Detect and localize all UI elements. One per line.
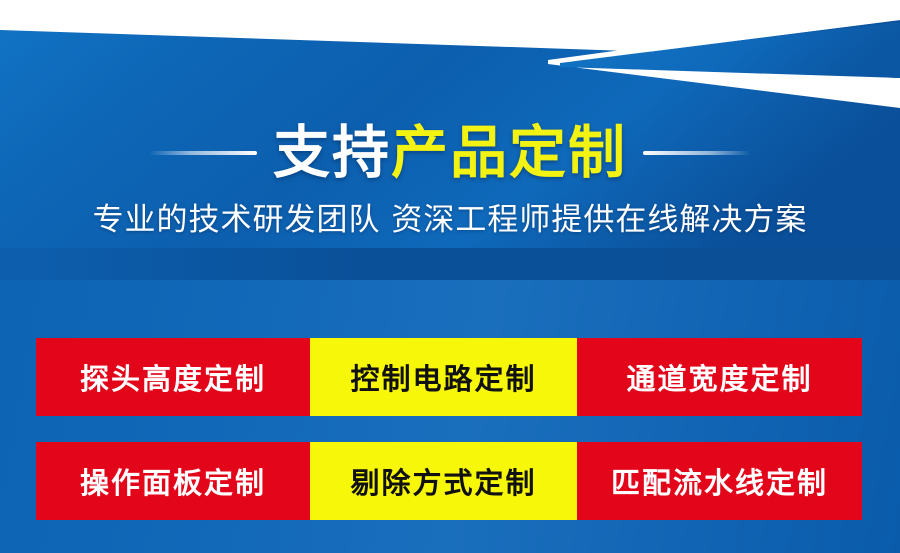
banner-subtitle: 专业的技术研发团队 资深工程师提供在线解决方案 <box>0 203 900 239</box>
banner-title: 支持产品定制 <box>273 125 627 182</box>
title-dash-right-icon <box>643 151 751 155</box>
tag-control-panel-custom[interactable]: 操作面板定制 <box>36 442 310 520</box>
tag-row-1: 探头高度定制 控制电路定制 通道宽度定制 <box>36 338 862 416</box>
tag-probe-height-custom[interactable]: 探头高度定制 <box>36 338 310 416</box>
tag-control-circuit-custom[interactable]: 控制电路定制 <box>310 338 577 416</box>
customization-tag-grid: 探头高度定制 控制电路定制 通道宽度定制 操作面板定制 剔除方式定制 匹配流水线… <box>36 338 862 520</box>
banner-title-row: 支持产品定制 <box>0 112 900 194</box>
title-segment-yellow: 产品定制 <box>391 120 627 186</box>
title-segment-white: 支持 <box>273 120 391 186</box>
tag-channel-width-custom[interactable]: 通道宽度定制 <box>577 338 862 416</box>
product-customization-banner: 支持产品定制 专业的技术研发团队 资深工程师提供在线解决方案 探头高度定制 控制… <box>0 0 900 553</box>
tag-row-2: 操作面板定制 剔除方式定制 匹配流水线定制 <box>36 442 862 520</box>
header-bottom-band <box>0 248 900 280</box>
tag-rejection-method-custom[interactable]: 剔除方式定制 <box>310 442 577 520</box>
tag-production-line-match-custom[interactable]: 匹配流水线定制 <box>577 442 862 520</box>
title-dash-left-icon <box>149 151 257 155</box>
